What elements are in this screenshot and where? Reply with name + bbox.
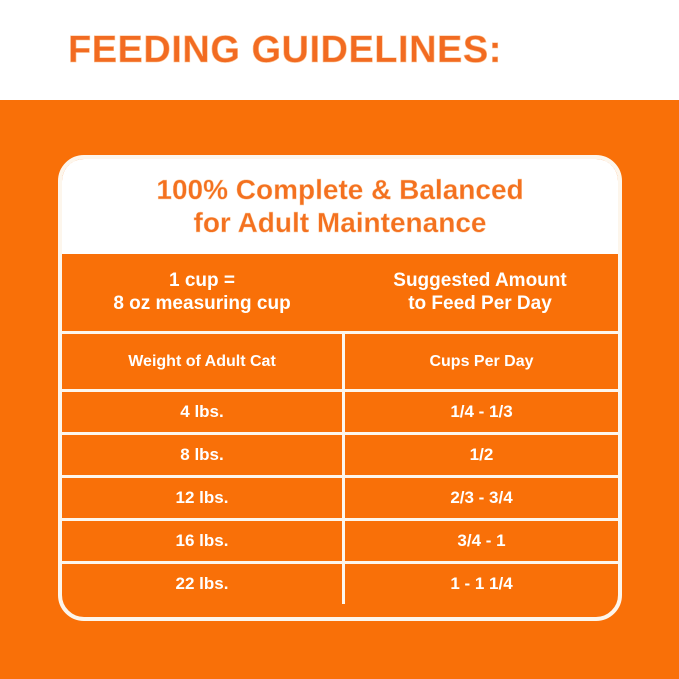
column-header-weight: Weight of Adult Cat bbox=[62, 334, 342, 389]
cell-weight: 16 lbs. bbox=[62, 521, 342, 561]
feeding-guidelines-page: FEEDING GUIDELINES: 100% Complete & Bala… bbox=[0, 0, 679, 679]
cell-cups: 1/2 bbox=[342, 435, 618, 475]
table-row: 12 lbs. 2/3 - 3/4 bbox=[62, 475, 618, 518]
cell-cups: 2/3 - 3/4 bbox=[342, 478, 618, 518]
cell-weight-value: 22 lbs. bbox=[176, 574, 229, 594]
table-header-row-primary: 1 cup = 8 oz measuring cup Suggested Amo… bbox=[62, 254, 618, 331]
cell-cups: 1/4 - 1/3 bbox=[342, 392, 618, 432]
cell-cups-value: 2/3 - 3/4 bbox=[450, 488, 512, 508]
page-header-band: FEEDING GUIDELINES: bbox=[0, 0, 679, 100]
feeding-guidelines-card: 100% Complete & Balanced for Adult Maint… bbox=[58, 155, 622, 621]
table-row: 8 lbs. 1/2 bbox=[62, 432, 618, 475]
cell-cups-value: 1/4 - 1/3 bbox=[450, 402, 512, 422]
column-header-cups-label: Cups Per Day bbox=[429, 353, 533, 371]
cell-cups-value: 1 - 1 1/4 bbox=[450, 574, 512, 594]
cell-weight: 8 lbs. bbox=[62, 435, 342, 475]
page-title: FEEDING GUIDELINES: bbox=[68, 29, 502, 72]
suggested-amount-line-1: Suggested Amount bbox=[393, 270, 566, 292]
table-row: 4 lbs. 1/4 - 1/3 bbox=[62, 389, 618, 432]
cell-weight-value: 16 lbs. bbox=[176, 531, 229, 551]
cell-cups: 1 - 1 1/4 bbox=[342, 564, 618, 604]
cell-weight: 4 lbs. bbox=[62, 392, 342, 432]
header-cell-suggested-amount: Suggested Amount to Feed Per Day bbox=[342, 254, 618, 331]
cell-cups: 3/4 - 1 bbox=[342, 521, 618, 561]
suggested-amount-line-2: to Feed Per Day bbox=[408, 293, 552, 315]
cell-cups-value: 1/2 bbox=[470, 445, 494, 465]
table-row: 16 lbs. 3/4 - 1 bbox=[62, 518, 618, 561]
card-title: 100% Complete & Balanced for Adult Maint… bbox=[62, 159, 618, 254]
cell-weight-value: 8 lbs. bbox=[180, 445, 223, 465]
cell-cups-value: 3/4 - 1 bbox=[457, 531, 505, 551]
table-header-row-columns: Weight of Adult Cat Cups Per Day bbox=[62, 331, 618, 389]
card-title-line-1: 100% Complete & Balanced bbox=[156, 174, 523, 206]
cup-measure-line-1: 1 cup = bbox=[169, 270, 235, 292]
table-row: 22 lbs. 1 - 1 1/4 bbox=[62, 561, 618, 604]
feeding-table: 1 cup = 8 oz measuring cup Suggested Amo… bbox=[62, 254, 618, 604]
cup-measure-line-2: 8 oz measuring cup bbox=[113, 293, 290, 315]
cell-weight-value: 4 lbs. bbox=[180, 402, 223, 422]
card-title-line-2: for Adult Maintenance bbox=[194, 207, 487, 239]
column-header-weight-label: Weight of Adult Cat bbox=[128, 353, 276, 371]
cell-weight-value: 12 lbs. bbox=[176, 488, 229, 508]
cell-weight: 22 lbs. bbox=[62, 564, 342, 604]
cell-weight: 12 lbs. bbox=[62, 478, 342, 518]
header-cell-cup-measure: 1 cup = 8 oz measuring cup bbox=[62, 254, 342, 331]
column-header-cups: Cups Per Day bbox=[342, 334, 618, 389]
